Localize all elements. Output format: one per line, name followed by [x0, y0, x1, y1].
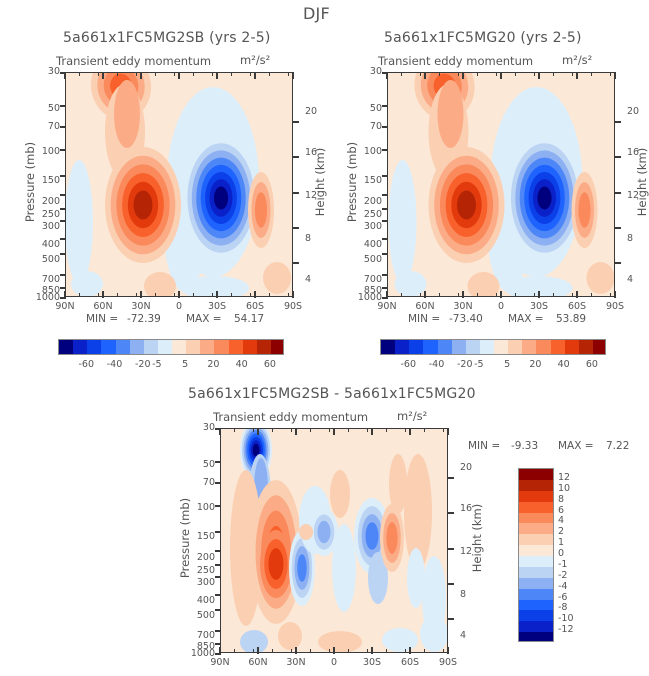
panel-right-units: m²/s² — [562, 53, 592, 67]
axis-tick — [60, 238, 66, 240]
axis-tick — [292, 262, 299, 264]
axis-tick — [420, 72, 421, 76]
panel-left-xtick-6: 90S — [275, 301, 311, 312]
axis-tick — [447, 477, 454, 479]
axis-tick — [447, 428, 449, 435]
axis-tick — [443, 428, 444, 432]
axis-tick — [193, 72, 194, 76]
axis-tick — [405, 649, 406, 653]
axis-tick — [572, 293, 573, 297]
colorbar-cell — [579, 340, 594, 354]
axis-tick — [215, 482, 221, 484]
axis-tick — [292, 72, 294, 79]
figure-season-title: DJF — [303, 4, 330, 23]
colorbar-tick-label: -6 — [558, 592, 567, 603]
axis-tick — [614, 72, 616, 79]
panel-diff-y2tick-1: 16 — [460, 503, 486, 514]
axis-tick — [292, 227, 299, 229]
axis-tick — [140, 291, 142, 298]
axis-tick — [572, 72, 573, 76]
panel-diff-plot-area[interactable] — [220, 428, 448, 653]
panel-diff-xtick-5: 60S — [392, 657, 428, 668]
axis-tick — [219, 647, 221, 654]
axis-tick — [401, 72, 402, 76]
axis-tick — [386, 649, 387, 653]
panel-right-ytick-5: 200 — [348, 196, 382, 207]
axis-tick — [140, 72, 142, 79]
panel-left-title: 5a661x1FC5MG2SB (yrs 2-5) — [63, 30, 271, 46]
axis-tick — [272, 428, 273, 432]
panel-diff-xtick-0: 90N — [202, 657, 238, 668]
axis-tick — [409, 428, 411, 435]
colorbar-cell — [536, 340, 551, 354]
colorbar-cell — [593, 340, 606, 354]
axis-tick — [333, 647, 335, 654]
axis-tick — [292, 121, 299, 123]
axis-tick — [458, 293, 459, 297]
axis-tick — [614, 156, 621, 158]
axis-tick — [500, 291, 502, 298]
axis-tick — [155, 72, 156, 76]
axis-tick — [178, 291, 180, 298]
axis-tick — [382, 126, 388, 128]
axis-tick — [292, 291, 294, 298]
panel-diff-y2tick-4: 4 — [460, 630, 486, 641]
panel-diff-ytick-0: 30 — [181, 422, 215, 433]
axis-tick — [382, 149, 388, 151]
axis-tick — [216, 291, 218, 298]
colorbar-tick-label: -12 — [558, 624, 574, 635]
axis-tick — [553, 293, 554, 297]
colorbar-tick-label: 4 — [558, 515, 564, 526]
axis-tick — [98, 293, 99, 297]
panel-diff-ytick-9: 500 — [181, 610, 215, 621]
axis-tick — [292, 156, 299, 158]
panel-left-min-label: MIN = — [86, 313, 118, 325]
axis-tick — [102, 72, 104, 79]
axis-tick — [215, 505, 221, 507]
axis-tick — [477, 72, 478, 76]
panel-right-xtick-2: 30N — [445, 301, 481, 312]
panel-right-xtick-3: 0 — [483, 301, 519, 312]
panel-right-ytick-2: 70 — [348, 121, 382, 132]
colorbar-cell — [200, 340, 215, 354]
colorbar-cell — [551, 340, 566, 354]
colorbar-cell — [271, 340, 284, 354]
panel-right-ytick-1: 50 — [348, 103, 382, 114]
panel-right-y2tick-3: 8 — [627, 233, 649, 244]
axis-tick — [614, 192, 621, 194]
axis-tick — [79, 72, 80, 76]
panel-right-y2tick-4: 4 — [627, 274, 649, 285]
axis-tick — [614, 262, 621, 264]
colorbar-cell — [130, 340, 145, 354]
colorbar-cell — [73, 340, 88, 354]
panel-diff-colorbar[interactable] — [518, 468, 554, 642]
axis-tick — [439, 72, 440, 76]
colorbar-tick-label: -2 — [558, 570, 567, 581]
axis-tick — [98, 72, 99, 76]
axis-tick — [333, 428, 335, 435]
axis-tick — [614, 121, 621, 123]
panel-right-y2tick-1: 16 — [627, 147, 649, 158]
panel-right-ytick-4: 150 — [348, 175, 382, 186]
panel-right-min-label: MIN = — [408, 313, 440, 325]
axis-tick — [496, 293, 497, 297]
axis-tick — [215, 564, 221, 566]
axis-tick — [178, 72, 180, 79]
axis-tick — [216, 72, 218, 79]
axis-tick — [288, 293, 289, 297]
contour-field — [65, 72, 293, 297]
colorbar-cell — [229, 340, 244, 354]
axis-tick — [234, 428, 235, 432]
axis-tick — [458, 72, 459, 76]
panel-left-xtick-3: 0 — [161, 301, 197, 312]
axis-tick — [439, 293, 440, 297]
panel-left-max-value: 54.17 — [234, 313, 264, 325]
axis-tick — [155, 293, 156, 297]
colorbar-cell — [172, 340, 187, 354]
panel-diff-ytick-7: 300 — [181, 577, 215, 588]
axis-tick — [462, 72, 464, 79]
panel-diff-subtitle: Transient eddy momentum — [213, 410, 368, 424]
colorbar-cell — [423, 340, 438, 354]
colorbar-tick-label: 60 — [574, 359, 610, 370]
axis-tick — [329, 428, 330, 432]
panel-left-ytick-9: 500 — [26, 254, 60, 265]
axis-tick — [386, 291, 388, 298]
panel-diff-units: m²/s² — [397, 409, 427, 423]
panel-left-ytick-0: 30 — [26, 66, 60, 77]
axis-tick — [234, 649, 235, 653]
axis-tick — [329, 649, 330, 653]
panel-left-xtick-2: 30N — [123, 301, 159, 312]
panel-diff-y2tick-3: 8 — [460, 589, 486, 600]
colorbar-tick-label: -8 — [558, 602, 567, 613]
axis-tick — [215, 630, 221, 632]
panel-right-ytick-10: 700 — [348, 274, 382, 285]
axis-tick — [215, 550, 221, 552]
colorbar-cell — [522, 340, 537, 354]
panel-diff-ytick-6: 250 — [181, 565, 215, 576]
panel-left-ytick-10: 700 — [26, 274, 60, 285]
colorbar-cell — [144, 340, 159, 354]
axis-tick — [254, 291, 256, 298]
panel-right-xtick-1: 60N — [407, 301, 443, 312]
axis-tick — [60, 208, 66, 210]
panel-diff-ytick-1: 50 — [181, 459, 215, 470]
axis-tick — [382, 194, 388, 196]
panel-diff-y2tick-2: 12 — [460, 546, 486, 557]
axis-tick — [367, 649, 368, 653]
axis-tick — [424, 291, 426, 298]
axis-tick — [462, 291, 464, 298]
panel-right-y2tick-2: 12 — [627, 190, 649, 201]
axis-tick — [367, 428, 368, 432]
axis-tick — [295, 428, 297, 435]
axis-tick — [386, 428, 387, 432]
panel-diff-max-value: 7.22 — [606, 440, 629, 452]
colorbar-cell — [243, 340, 258, 354]
axis-tick — [136, 293, 137, 297]
axis-tick — [382, 175, 388, 177]
axis-tick — [515, 72, 516, 76]
colorbar-cell — [519, 632, 553, 642]
contour-field-difference — [220, 428, 448, 653]
panel-diff-y2tick-0: 20 — [460, 462, 486, 473]
colorbar-tick-label: 12 — [558, 472, 570, 483]
axis-tick — [515, 293, 516, 297]
axis-tick — [212, 72, 213, 76]
axis-tick — [272, 649, 273, 653]
panel-left-ytick-2: 70 — [26, 121, 60, 132]
panel-right-plot-area[interactable] — [387, 72, 615, 297]
axis-tick — [60, 175, 66, 177]
colorbar-tick-label: 6 — [558, 505, 564, 516]
colorbar-cell — [257, 340, 272, 354]
axis-tick — [253, 649, 254, 653]
colorbar-tick-label: 0 — [558, 548, 564, 559]
panel-diff-xtick-4: 30S — [354, 657, 390, 668]
axis-tick — [295, 647, 297, 654]
panel-diff-xtick-6: 90S — [430, 657, 466, 668]
panel-right-ytick-0: 30 — [348, 66, 382, 77]
panel-left-xtick-1: 60N — [85, 301, 121, 312]
axis-tick — [250, 293, 251, 297]
panel-right-max-value: 53.89 — [556, 313, 586, 325]
panel-right-title: 5a661x1FC5MG20 (yrs 2-5) — [384, 30, 582, 46]
axis-tick — [193, 293, 194, 297]
panel-left-y2tick-1: 16 — [305, 147, 331, 158]
colorbar-cell — [116, 340, 131, 354]
panel-right-ytick-8: 400 — [348, 239, 382, 250]
panel-right-ytick-7: 300 — [348, 221, 382, 232]
axis-tick — [409, 647, 411, 654]
axis-tick — [382, 287, 388, 289]
panel-diff-ytick-4: 150 — [181, 531, 215, 542]
axis-tick — [371, 428, 373, 435]
axis-tick — [424, 428, 425, 432]
axis-tick — [610, 293, 611, 297]
panel-left-y2tick-4: 4 — [305, 274, 331, 285]
axis-tick — [310, 649, 311, 653]
colorbar-cell — [158, 340, 173, 354]
panel-diff-ytick-3: 100 — [181, 502, 215, 513]
panel-left-ytick-1: 50 — [26, 103, 60, 114]
colorbar-cell — [409, 340, 424, 354]
axis-tick — [553, 72, 554, 76]
panel-left-y2tick-3: 8 — [305, 233, 331, 244]
axis-tick — [257, 647, 259, 654]
colorbar-cell — [565, 340, 580, 354]
axis-tick — [386, 72, 388, 79]
axis-tick — [219, 428, 221, 435]
axis-tick — [477, 293, 478, 297]
axis-tick — [288, 72, 289, 76]
axis-tick — [348, 428, 349, 432]
axis-tick — [60, 220, 66, 222]
panel-right-max-label: MAX = — [508, 313, 544, 325]
axis-tick — [538, 291, 540, 298]
colorbar-cell — [381, 340, 396, 354]
colorbar-cell — [508, 340, 523, 354]
axis-tick — [231, 293, 232, 297]
axis-tick — [60, 274, 66, 276]
panel-right-ytick-9: 500 — [348, 254, 382, 265]
axis-tick — [291, 428, 292, 432]
panel-left-ytick-8: 400 — [26, 239, 60, 250]
colorbar-tick-label: 10 — [558, 483, 570, 494]
axis-tick — [212, 293, 213, 297]
panel-left-xtick-4: 30S — [199, 301, 235, 312]
panel-left-subtitle: Transient eddy momentum — [56, 54, 211, 68]
axis-tick — [405, 428, 406, 432]
axis-tick — [447, 618, 454, 620]
panel-diff-title: 5a661x1FC5MG2SB - 5a661x1FC5MG20 — [188, 386, 476, 402]
axis-tick — [382, 220, 388, 222]
axis-tick — [576, 72, 578, 79]
axis-tick — [253, 428, 254, 432]
panel-right-xtick-5: 60S — [559, 301, 595, 312]
colorbar-tick-label: 60 — [252, 359, 288, 370]
axis-tick — [382, 253, 388, 255]
panel-diff-xtick-1: 60N — [240, 657, 276, 668]
colorbar-tick-label: -10 — [558, 613, 574, 624]
panel-left-colorbar[interactable] — [58, 339, 284, 355]
axis-tick — [420, 293, 421, 297]
panel-diff-min-value: -9.33 — [511, 440, 538, 452]
colorbar-cell — [87, 340, 102, 354]
panel-diff-ytick-2: 70 — [181, 477, 215, 488]
axis-tick — [538, 72, 540, 79]
axis-tick — [291, 649, 292, 653]
panel-left-units: m²/s² — [240, 53, 270, 67]
axis-tick — [64, 72, 66, 79]
axis-tick — [60, 287, 66, 289]
axis-tick — [60, 105, 66, 107]
axis-tick — [591, 72, 592, 76]
axis-tick — [269, 72, 270, 76]
colorbar-cell — [214, 340, 229, 354]
axis-tick — [614, 291, 616, 298]
axis-tick — [447, 548, 454, 550]
colorbar-cell — [480, 340, 495, 354]
axis-tick — [60, 253, 66, 255]
axis-tick — [215, 643, 221, 645]
axis-tick — [310, 428, 311, 432]
panel-diff-min-label: MIN = — [468, 440, 500, 452]
colorbar-cell — [494, 340, 509, 354]
axis-tick — [382, 238, 388, 240]
panel-left-y2tick-2: 12 — [305, 190, 331, 201]
panel-diff-ytick-10: 700 — [181, 630, 215, 641]
panel-left-xtick-0: 90N — [47, 301, 83, 312]
axis-tick — [496, 72, 497, 76]
axis-tick — [250, 72, 251, 76]
panel-left-plot-area[interactable] — [65, 72, 293, 297]
colorbar-cell — [59, 340, 74, 354]
panel-right-min-value: -73.40 — [449, 313, 483, 325]
axis-tick — [447, 647, 449, 654]
colorbar-cell — [101, 340, 116, 354]
axis-tick — [64, 291, 66, 298]
panel-right-xtick-4: 30S — [521, 301, 557, 312]
panel-left-xtick-5: 60S — [237, 301, 273, 312]
axis-tick — [382, 105, 388, 107]
axis-tick — [174, 293, 175, 297]
panel-right-ytick-3: 100 — [348, 146, 382, 157]
panel-diff-ytick-8: 400 — [181, 595, 215, 606]
axis-tick — [576, 291, 578, 298]
panel-left-ytick-3: 100 — [26, 146, 60, 157]
panel-left-ytick-5: 200 — [26, 196, 60, 207]
panel-diff-xtick-2: 30N — [278, 657, 314, 668]
axis-tick — [382, 274, 388, 276]
axis-tick — [610, 72, 611, 76]
panel-left-ytick-6: 250 — [26, 209, 60, 220]
axis-tick — [117, 72, 118, 76]
axis-tick — [60, 126, 66, 128]
axis-tick — [443, 649, 444, 653]
axis-tick — [534, 293, 535, 297]
colorbar-tick-label: -1 — [558, 559, 567, 570]
axis-tick — [215, 461, 221, 463]
panel-diff-ytick-5: 200 — [181, 552, 215, 563]
axis-tick — [269, 293, 270, 297]
panel-left-y2tick-0: 20 — [305, 106, 331, 117]
axis-tick — [215, 594, 221, 596]
panel-left-ytick-4: 150 — [26, 175, 60, 186]
panel-right-xtick-0: 90N — [369, 301, 405, 312]
axis-tick — [401, 293, 402, 297]
axis-tick — [254, 72, 256, 79]
axis-tick — [500, 72, 502, 79]
axis-tick — [174, 72, 175, 76]
colorbar-cell — [438, 340, 453, 354]
panel-right-subtitle: Transient eddy momentum — [378, 54, 533, 68]
axis-tick — [102, 291, 104, 298]
axis-tick — [447, 512, 454, 514]
axis-tick — [231, 72, 232, 76]
axis-tick — [424, 649, 425, 653]
panel-right-ytick-6: 250 — [348, 209, 382, 220]
colorbar-cell — [395, 340, 410, 354]
panel-left-max-label: MAX = — [186, 313, 222, 325]
colorbar-tick-label: 2 — [558, 526, 564, 537]
panel-right-colorbar[interactable] — [380, 339, 606, 355]
axis-tick — [79, 293, 80, 297]
panel-right-xtick-6: 90S — [597, 301, 633, 312]
axis-tick — [215, 576, 221, 578]
axis-tick — [424, 72, 426, 79]
panel-left-min-value: -72.39 — [127, 313, 161, 325]
axis-tick — [534, 72, 535, 76]
axis-tick — [257, 428, 259, 435]
colorbar-cell — [186, 340, 201, 354]
axis-tick — [215, 609, 221, 611]
axis-tick — [292, 192, 299, 194]
panel-left-ytick-7: 300 — [26, 221, 60, 232]
axis-tick — [371, 647, 373, 654]
panel-right-y2tick-0: 20 — [627, 106, 649, 117]
axis-tick — [60, 149, 66, 151]
colorbar-cell — [466, 340, 481, 354]
axis-tick — [60, 194, 66, 196]
axis-tick — [447, 583, 454, 585]
axis-tick — [614, 227, 621, 229]
contour-field — [387, 72, 615, 297]
